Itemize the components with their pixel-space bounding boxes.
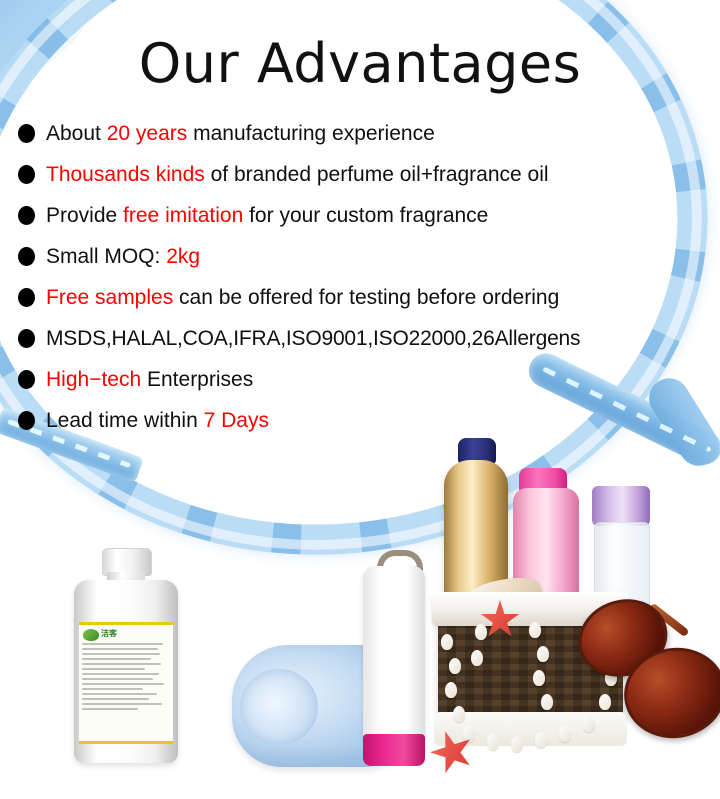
list-item: MSDS,HALAL,COA,IFRA,ISO9001,ISO22000,26A… bbox=[18, 318, 708, 359]
bottle-label-text-lines bbox=[82, 643, 170, 713]
list-item-text: Provide free imitation for your custom f… bbox=[46, 204, 488, 228]
bullet-dot-icon bbox=[18, 329, 35, 348]
bottle-body bbox=[363, 566, 425, 738]
page-title: Our Advantages bbox=[0, 34, 720, 94]
bullet-dot-icon bbox=[18, 411, 35, 430]
bullet-dot-icon bbox=[18, 288, 35, 307]
list-item-text: Small MOQ: 2kg bbox=[46, 245, 200, 269]
product-photo-collage: 洁客 bbox=[0, 430, 720, 799]
list-item: Small MOQ: 2kg bbox=[18, 236, 708, 277]
leaf-logo-icon bbox=[83, 629, 99, 641]
bullet-dot-icon bbox=[18, 124, 35, 143]
bullet-dot-icon bbox=[18, 206, 35, 225]
list-item-text: Thousands kinds of branded perfume oil+f… bbox=[46, 163, 549, 187]
bottle-label-brand: 洁客 bbox=[101, 628, 117, 639]
bottle-label: 洁客 bbox=[79, 622, 173, 744]
list-item: Provide free imitation for your custom f… bbox=[18, 195, 708, 236]
bullet-dot-icon bbox=[18, 370, 35, 389]
sunglasses-amber bbox=[572, 600, 720, 738]
list-item-text: About 20 years manufacturing experience bbox=[46, 122, 435, 146]
lotion-bottle-white-pink bbox=[363, 558, 425, 768]
advantages-list: About 20 years manufacturing experience … bbox=[18, 113, 708, 441]
advantages-banner: Our Advantages About 20 years manufactur… bbox=[0, 0, 720, 799]
list-item-text: High−tech Enterprises bbox=[46, 368, 253, 392]
bottle-cap bbox=[592, 486, 650, 526]
list-item: Thousands kinds of branded perfume oil+f… bbox=[18, 154, 708, 195]
list-item-text: Lead time within 7 Days bbox=[46, 409, 269, 433]
sample-bottle-white: 洁客 bbox=[74, 548, 178, 763]
bottle-cap bbox=[363, 734, 425, 766]
list-item-text: Free samples can be offered for testing … bbox=[46, 286, 559, 310]
list-item: About 20 years manufacturing experience bbox=[18, 113, 708, 154]
list-item: Free samples can be offered for testing … bbox=[18, 277, 708, 318]
bullet-dot-icon bbox=[18, 165, 35, 184]
list-item: High−tech Enterprises bbox=[18, 359, 708, 400]
bullet-dot-icon bbox=[18, 247, 35, 266]
list-item-text: MSDS,HALAL,COA,IFRA,ISO9001,ISO22000,26A… bbox=[46, 327, 580, 351]
